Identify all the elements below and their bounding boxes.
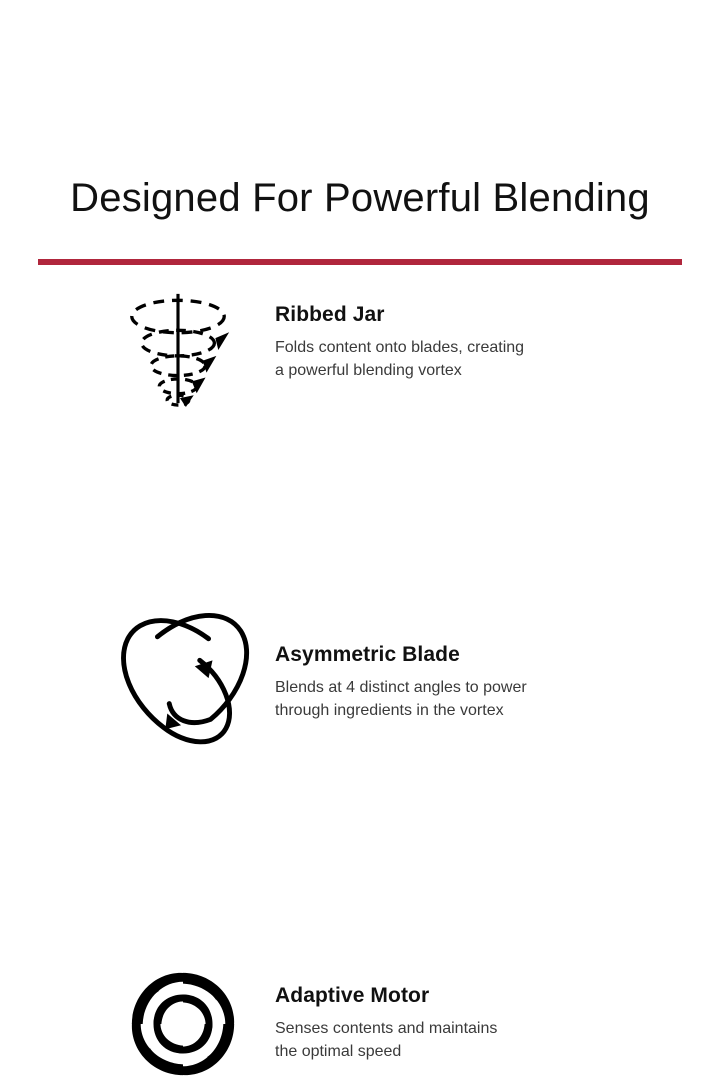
feature-title: Adaptive Motor <box>275 983 675 1008</box>
feature-text-block: Ribbed Jar Folds content onto blades, cr… <box>275 302 675 383</box>
feature-list: Ribbed Jar Folds content onto blades, cr… <box>0 286 720 796</box>
feature-description: Senses contents and maintains the optima… <box>275 1017 675 1063</box>
feature-item: Asymmetric Blade Blends at 4 distinct an… <box>0 456 720 626</box>
page-title: Designed For Powerful Blending <box>0 176 720 220</box>
header-divider <box>38 259 682 265</box>
vortex-funnel-icon <box>118 288 238 408</box>
feature-item: Adaptive Motor Senses contents and maint… <box>0 626 720 796</box>
feature-text-block: Adaptive Motor Senses contents and maint… <box>275 983 675 1064</box>
feature-item: Ribbed Jar Folds content onto blades, cr… <box>0 286 720 456</box>
page-header: Designed For Powerful Blending <box>0 176 720 220</box>
feature-description: Folds content onto blades, creating a po… <box>275 336 675 382</box>
feature-page: Designed For Powerful Blending <box>0 0 720 928</box>
feature-title: Ribbed Jar <box>275 302 675 327</box>
adaptive-motor-spiral-icon <box>123 964 243 1084</box>
